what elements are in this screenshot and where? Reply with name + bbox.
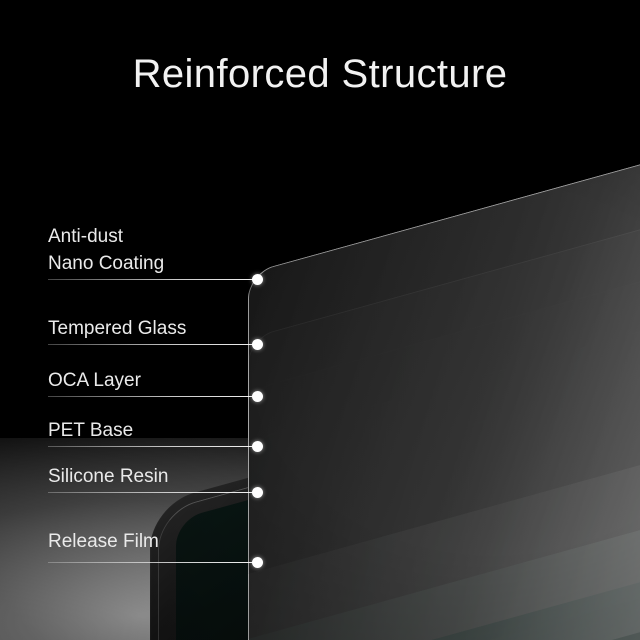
page-title: Reinforced Structure xyxy=(0,52,640,97)
callout-label-line1: Anti-dust xyxy=(48,223,123,250)
callout-leader-line xyxy=(48,492,257,493)
callout-leader-line xyxy=(48,279,257,280)
callout-anchor-dot xyxy=(252,391,263,402)
infographic-canvas: Reinforced Structure Anti-dust Nano Coat… xyxy=(0,0,640,640)
callout-label-line1: Silicone Resin xyxy=(48,463,168,490)
callout-leader-line xyxy=(48,446,257,447)
callout-anchor-dot xyxy=(252,441,263,452)
callout-anchor-dot xyxy=(252,487,263,498)
callout-label-line1: Tempered Glass xyxy=(48,315,186,342)
callout-anchor-dot xyxy=(252,557,263,568)
callout-label-line2: Nano Coating xyxy=(48,250,164,277)
callout-leader-line xyxy=(48,396,257,397)
callout-label-line1: Release Film xyxy=(48,528,159,555)
callout-label-line1: PET Base xyxy=(48,417,133,444)
callout-label-line1: OCA Layer xyxy=(48,367,141,394)
callout-anchor-dot xyxy=(252,274,263,285)
callout-anchor-dot xyxy=(252,339,263,350)
callout-leader-line xyxy=(48,562,257,563)
callout-leader-line xyxy=(48,344,257,345)
